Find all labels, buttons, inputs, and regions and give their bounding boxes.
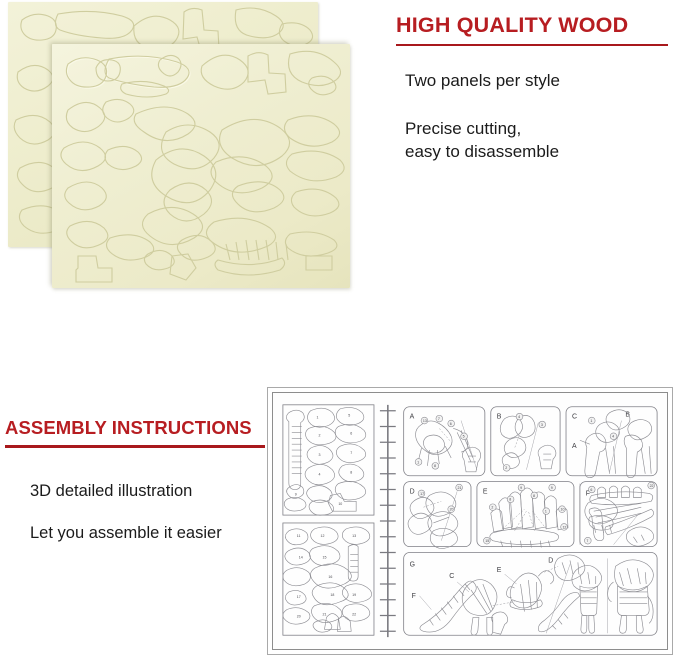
instruction-sheet: 12 34 56 78 910 (267, 387, 673, 655)
svg-text:5: 5 (463, 435, 465, 439)
svg-text:1: 1 (417, 460, 419, 464)
svg-text:13: 13 (352, 534, 356, 538)
svg-text:A: A (572, 443, 577, 450)
step-panel-b: B 4 3 2 (491, 407, 560, 476)
svg-text:1: 1 (590, 419, 592, 423)
infographic-canvas: HIGH QUALITY WOOD Two panels per style P… (0, 0, 679, 660)
svg-text:D: D (548, 557, 553, 564)
wood-panels-photo (0, 0, 360, 300)
svg-text:G: G (410, 561, 415, 568)
assembly-line-2: Let you assemble it easier (30, 522, 265, 544)
quality-line-1: Two panels per style (405, 70, 668, 93)
svg-text:1: 1 (545, 510, 547, 514)
svg-text:7: 7 (438, 417, 440, 421)
parts-map-2: 1112 1314 1516 1718 1920 2122 (283, 523, 374, 635)
svg-text:20: 20 (450, 508, 454, 512)
step-panel-a: A 13 7 (404, 407, 485, 476)
svg-text:2: 2 (319, 433, 321, 437)
svg-text:21: 21 (458, 486, 462, 490)
svg-text:A: A (410, 414, 415, 421)
step-panel-f: F 6 22 7 (580, 482, 657, 547)
svg-text:12: 12 (562, 525, 566, 529)
svg-text:D: D (410, 488, 415, 495)
svg-text:8: 8 (533, 494, 535, 498)
svg-text:19: 19 (352, 593, 356, 597)
svg-text:7: 7 (586, 539, 588, 543)
instruction-sheet-artwork: 12 34 56 78 910 (273, 393, 667, 649)
svg-text:6: 6 (350, 431, 352, 435)
svg-text:4: 4 (518, 415, 520, 419)
svg-text:8: 8 (434, 464, 436, 468)
svg-text:10: 10 (560, 508, 564, 512)
step-panel-g: G C E D F (404, 553, 657, 636)
svg-text:18: 18 (330, 593, 334, 597)
svg-text:3: 3 (541, 423, 543, 427)
center-ruler (380, 405, 396, 637)
assembly-line-1: 3D detailed illustration (30, 480, 265, 502)
wood-panel-front-cutlines (52, 44, 350, 288)
assembly-instructions-block: ASSEMBLY INSTRUCTIONS 3D detailed illust… (5, 418, 265, 544)
assembly-instructions-bullets: 3D detailed illustration Let you assembl… (5, 480, 265, 544)
svg-text:4: 4 (319, 473, 321, 477)
svg-text:E: E (497, 567, 502, 574)
wood-panel-front (52, 44, 350, 288)
svg-text:12: 12 (321, 534, 325, 538)
svg-text:17: 17 (420, 492, 424, 496)
svg-text:F: F (412, 593, 416, 600)
svg-text:9: 9 (520, 486, 522, 490)
svg-text:6: 6 (450, 422, 452, 426)
svg-text:C: C (449, 573, 454, 580)
step-panel-c: C B A (566, 407, 657, 478)
svg-text:6: 6 (590, 488, 592, 492)
svg-text:2: 2 (505, 466, 507, 470)
svg-text:1: 1 (317, 416, 319, 420)
svg-text:22: 22 (352, 613, 356, 617)
step-panel-e: E (477, 482, 618, 548)
svg-text:15: 15 (322, 555, 326, 559)
svg-text:15: 15 (485, 539, 489, 543)
svg-text:16: 16 (328, 575, 332, 579)
svg-text:9: 9 (295, 492, 297, 496)
high-quality-wood-heading: HIGH QUALITY WOOD (396, 14, 668, 38)
svg-text:5: 5 (348, 414, 350, 418)
svg-text:17: 17 (297, 595, 301, 599)
svg-text:E: E (483, 488, 488, 495)
parts-map-1: 12 34 56 78 910 (283, 405, 374, 516)
quality-line-3: easy to disassemble (405, 141, 668, 164)
step-panel-d: D 17 21 20 (404, 482, 471, 549)
svg-text:9: 9 (551, 486, 553, 490)
svg-text:22: 22 (650, 484, 654, 488)
high-quality-wood-bullets: Two panels per style Precise cutting, ea… (396, 70, 668, 164)
svg-text:C: C (572, 414, 577, 421)
svg-text:2: 2 (491, 506, 493, 510)
svg-text:8: 8 (350, 471, 352, 475)
svg-text:13: 13 (423, 419, 427, 423)
assembly-instructions-underline (5, 445, 265, 448)
high-quality-wood-block: HIGH QUALITY WOOD Two panels per style P… (396, 14, 668, 164)
svg-text:7: 7 (350, 451, 352, 455)
svg-text:10: 10 (338, 502, 342, 506)
svg-text:B: B (497, 414, 502, 421)
assembly-instructions-heading: ASSEMBLY INSTRUCTIONS (5, 418, 265, 438)
quality-line-2: Precise cutting, (405, 118, 668, 141)
svg-text:20: 20 (297, 615, 301, 619)
svg-text:21: 21 (322, 613, 326, 617)
svg-text:14: 14 (299, 555, 303, 559)
svg-text:8: 8 (509, 498, 511, 502)
quality-line-spacer (405, 92, 668, 118)
assembly-line-spacer (30, 502, 265, 522)
svg-text:11: 11 (297, 534, 301, 538)
svg-text:3: 3 (319, 453, 321, 457)
svg-text:4: 4 (612, 435, 614, 439)
high-quality-wood-underline (396, 44, 668, 46)
instruction-sheet-inner-frame: 12 34 56 78 910 (272, 392, 668, 650)
